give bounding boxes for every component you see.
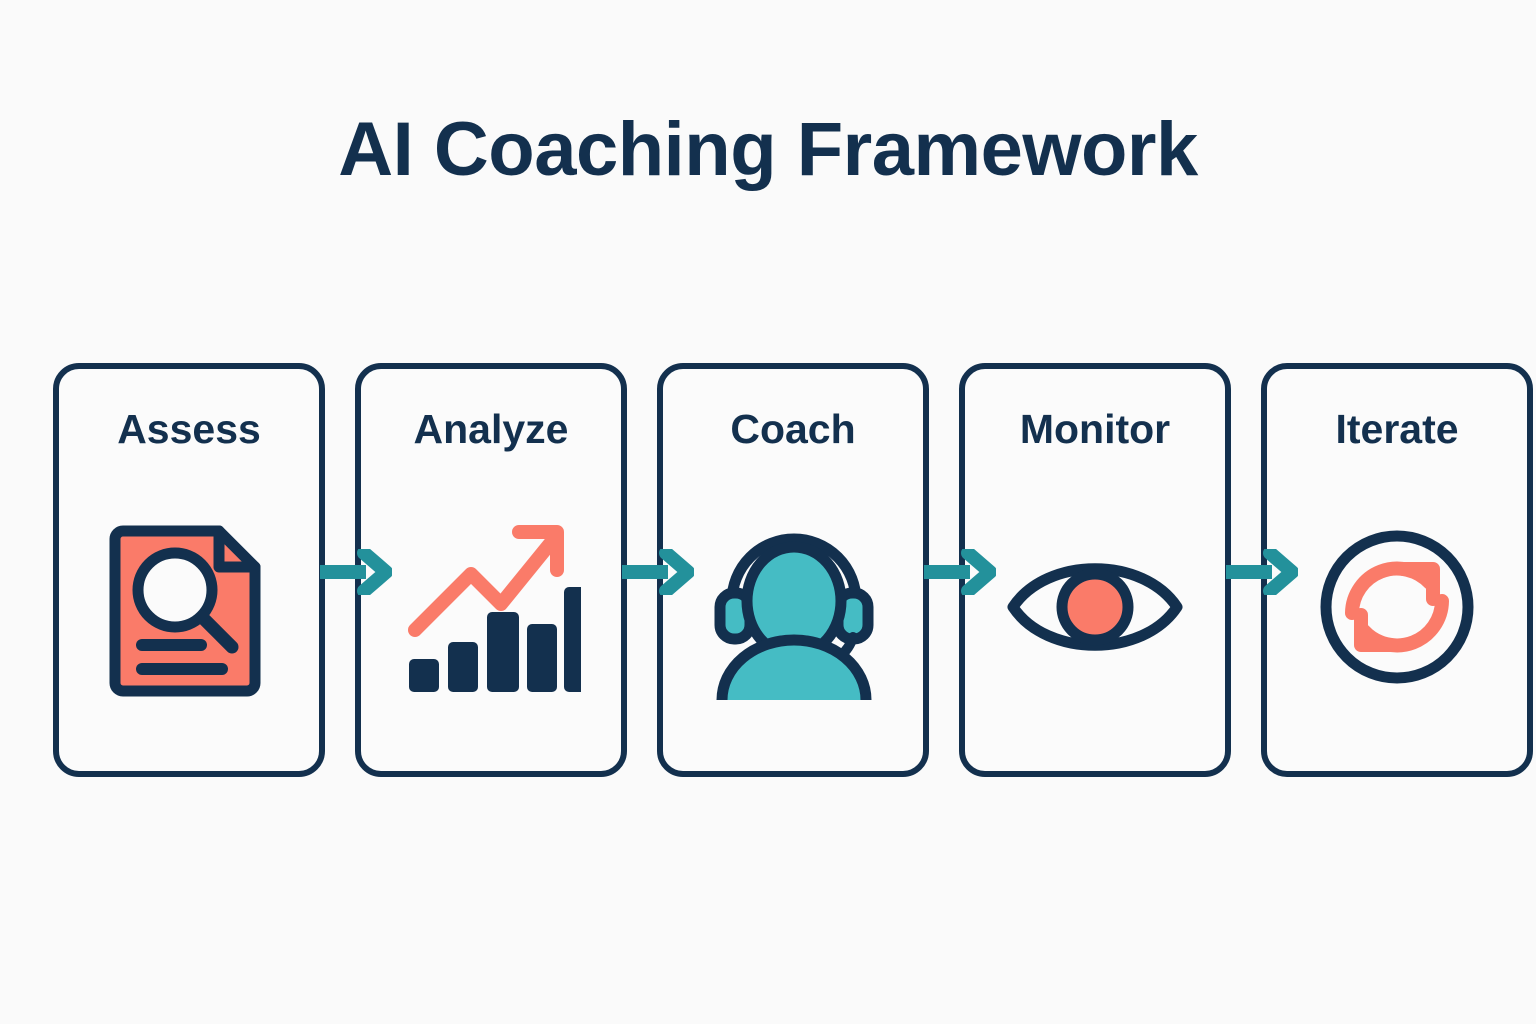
step-label: Assess	[59, 407, 319, 452]
step-label: Analyze	[361, 407, 621, 452]
process-flow: Assess Analyze	[53, 363, 1505, 777]
arrow-right-icon	[318, 549, 392, 595]
arrow-right-icon	[620, 549, 694, 595]
step-label: Coach	[663, 407, 923, 452]
refresh-cycle-icon	[1267, 507, 1527, 707]
arrow-right-icon	[922, 549, 996, 595]
step-label: Iterate	[1267, 407, 1527, 452]
step-card-iterate[interactable]: Iterate	[1261, 363, 1533, 777]
step-card-analyze[interactable]: Analyze	[355, 363, 627, 777]
arrow-right-icon	[1224, 549, 1298, 595]
bar-chart-trend-up-icon	[361, 507, 621, 707]
step-label: Monitor	[965, 407, 1225, 452]
document-search-icon	[59, 507, 319, 707]
step-card-coach[interactable]: Coach	[657, 363, 929, 777]
diagram-root: AI Coaching Framework Assess	[0, 0, 1536, 1024]
page-title: AI Coaching Framework	[0, 112, 1536, 188]
eye-icon	[965, 507, 1225, 707]
headset-person-icon	[663, 507, 923, 707]
step-card-monitor[interactable]: Monitor	[959, 363, 1231, 777]
step-card-assess[interactable]: Assess	[53, 363, 325, 777]
